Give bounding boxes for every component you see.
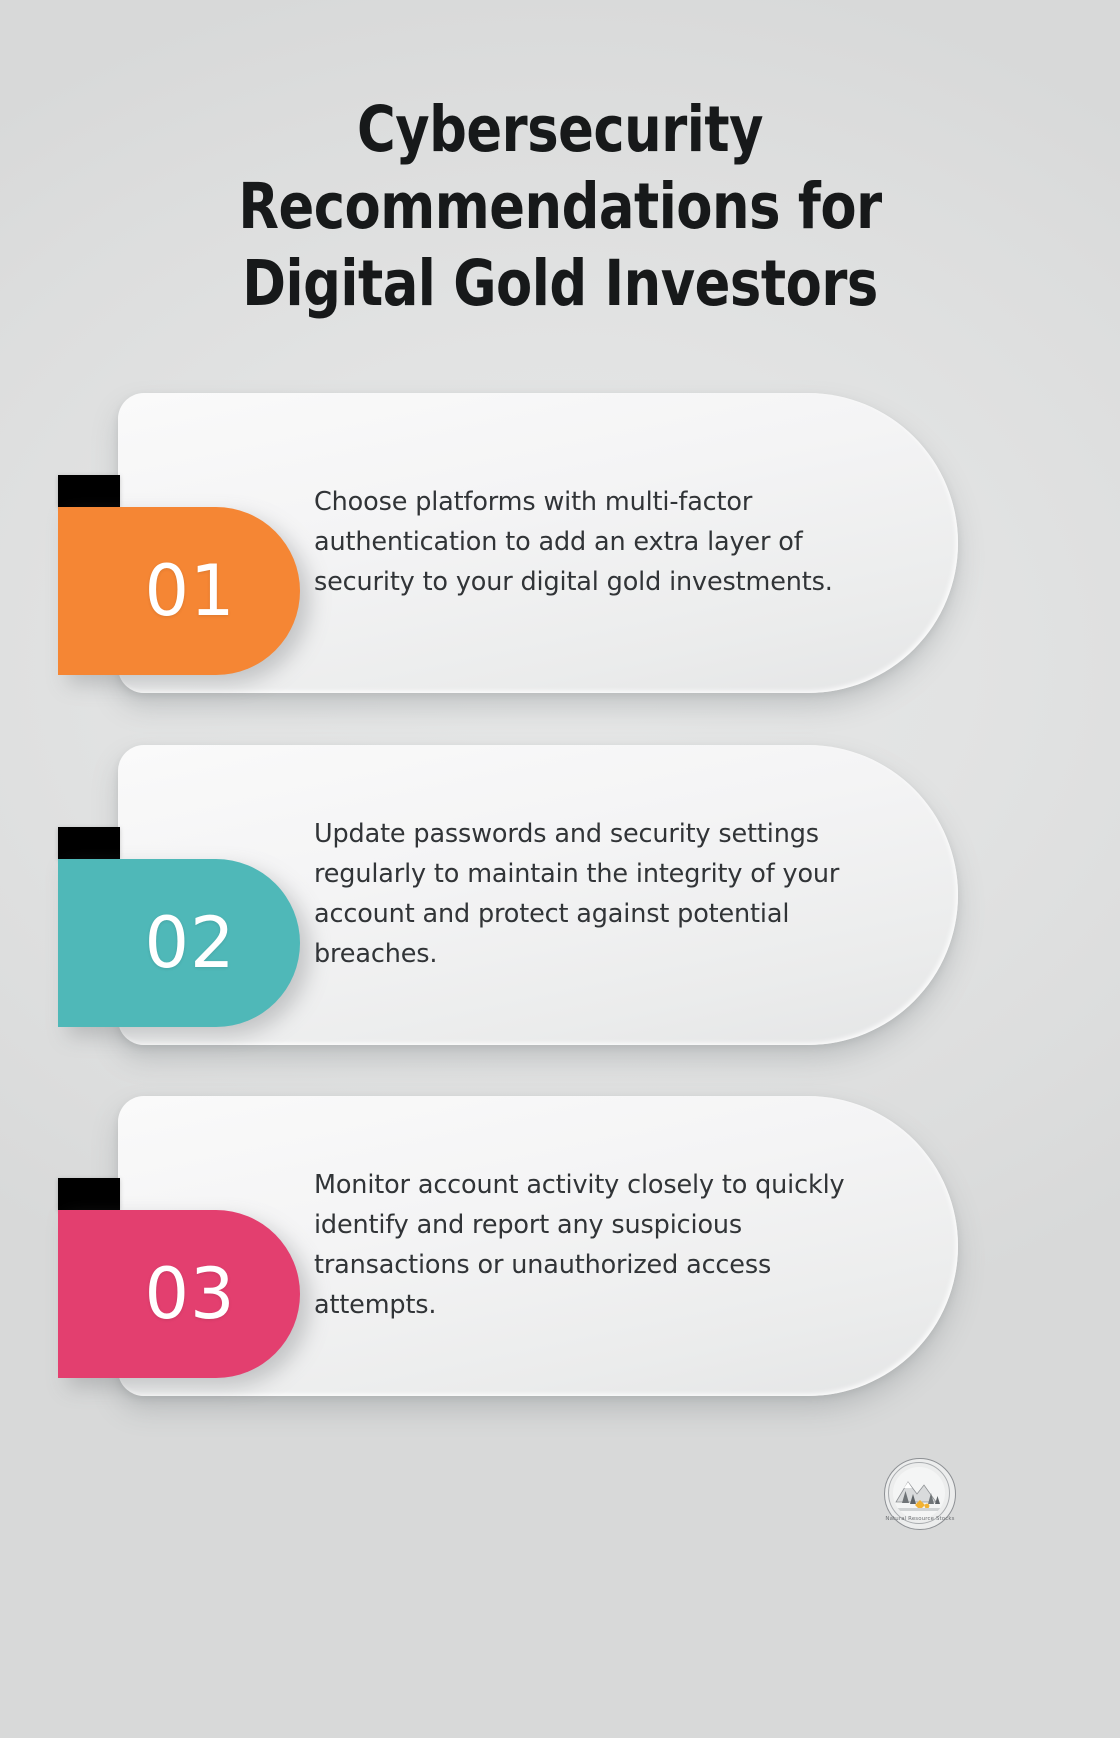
ribbon-fold-wedge <box>58 827 120 859</box>
step-number-label: 03 <box>122 1259 235 1329</box>
card-description: Update passwords and security settings r… <box>314 815 874 974</box>
step-number-tab-2: 02 <box>58 859 300 1027</box>
ribbon-fold-1 <box>58 475 120 507</box>
brand-logo: Natural Resource Stocks <box>884 1458 956 1530</box>
recommendation-card-1: 01 Choose platforms with multi-factor au… <box>118 393 958 693</box>
step-number-tab-1: 01 <box>58 507 300 675</box>
card-text-container-2: Update passwords and security settings r… <box>314 745 874 1045</box>
ribbon-fold-2 <box>58 827 120 859</box>
page-title-container: Cybersecurity Recommendations for Digita… <box>0 92 1120 323</box>
infographic-poster: Cybersecurity Recommendations for Digita… <box>0 0 1120 1738</box>
logo-caption: Natural Resource Stocks <box>870 1516 970 1522</box>
ribbon-fold-wedge <box>58 475 120 507</box>
card-text-container-3: Monitor account activity closely to quic… <box>314 1096 874 1396</box>
step-number-label: 02 <box>122 908 235 978</box>
card-description: Choose platforms with multi-factor authe… <box>314 483 874 602</box>
ribbon-fold-3 <box>58 1178 120 1210</box>
step-number-label: 01 <box>122 556 235 626</box>
recommendation-card-3: 03 Monitor account activity closely to q… <box>118 1096 958 1396</box>
ribbon-fold-wedge <box>58 1178 120 1210</box>
step-number-tab-3: 03 <box>58 1210 300 1378</box>
card-text-container-1: Choose platforms with multi-factor authe… <box>314 393 874 693</box>
page-title: Cybersecurity Recommendations for Digita… <box>151 92 969 323</box>
card-description: Monitor account activity closely to quic… <box>314 1166 874 1325</box>
recommendation-card-2: 02 Update passwords and security setting… <box>118 745 958 1045</box>
